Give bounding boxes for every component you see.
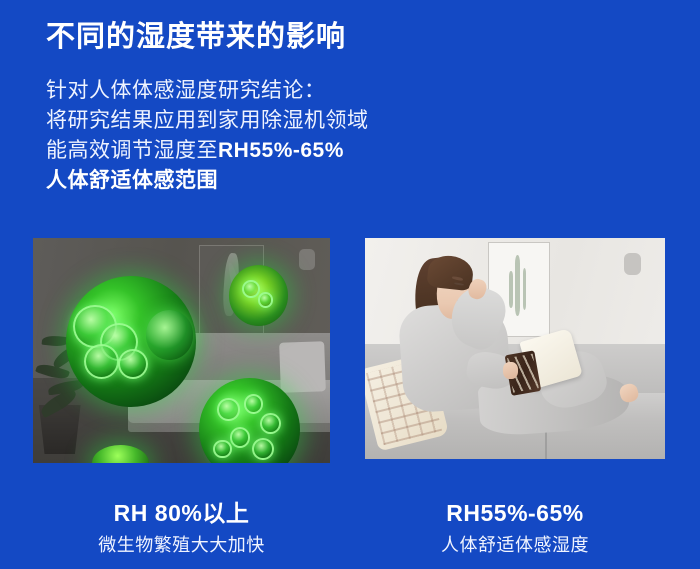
photo-comfort-humidity <box>365 238 665 459</box>
woman-reading <box>365 238 665 459</box>
caption-sub-text: 人体舒适体感湿度 <box>365 532 665 559</box>
hand-holding-book <box>503 362 518 380</box>
caption-main-text: RH55%-65% <box>365 498 665 528</box>
body-line-3-normal: 能高效调节湿度至 <box>46 139 218 162</box>
microbe-icon <box>146 310 194 360</box>
body-line-3: 能高效调节湿度至RH55%-65% <box>46 136 369 166</box>
sofa-cushion <box>279 341 325 392</box>
page-title: 不同的湿度带来的影响 <box>46 18 346 56</box>
body-line-2: 将研究结果应用到家用除湿机领域 <box>46 106 369 136</box>
caption-high-humidity: RH 80%以上 微生物繁殖大大加快 <box>33 498 330 559</box>
body-copy: 针对人体体感湿度研究结论： 将研究结果应用到家用除湿机领域 能高效调节湿度至RH… <box>46 76 369 196</box>
hair-top <box>426 253 474 291</box>
body-line-4: 人体舒适体感范围 <box>46 166 369 196</box>
body-line-3-highlight: RH55%-65% <box>218 139 344 162</box>
caption-main-text: RH 80%以上 <box>33 498 330 528</box>
microbe-icon <box>229 265 288 326</box>
body-line-1: 针对人体体感湿度研究结论： <box>46 76 369 106</box>
dark-room-scene <box>33 238 330 463</box>
photo-high-humidity <box>33 238 330 463</box>
wall-speaker-icon <box>299 249 315 270</box>
humidity-comparison-poster: 不同的湿度带来的影响 针对人体体感湿度研究结论： 将研究结果应用到家用除湿机领域… <box>0 0 700 569</box>
caption-comfort-humidity: RH55%-65% 人体舒适体感湿度 <box>365 498 665 559</box>
caption-sub-text: 微生物繁殖大大加快 <box>33 532 330 559</box>
bright-room-scene <box>365 238 665 459</box>
